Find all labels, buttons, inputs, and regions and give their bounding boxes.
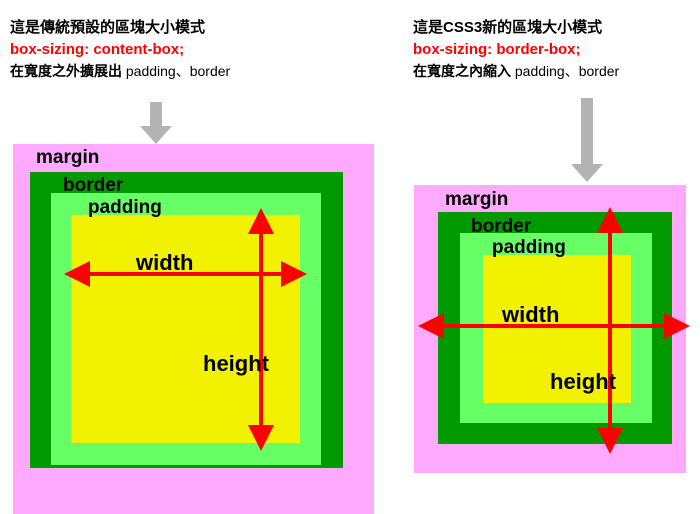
border-box-height-label: height [550,371,616,393]
caption-left-line1: 這是傳統預設的區塊大小模式 [10,17,230,39]
content-box-height-label: height [203,353,269,375]
border-box-width-label: width [502,304,559,326]
caption-right-line3: 在寬度之內縮入 padding、border [413,61,619,81]
border-box-border-label: border [471,217,531,236]
caption-left-code: box-sizing: content-box; [10,39,230,61]
caption-content-box: 這是傳統預設的區塊大小模式 box-sizing: content-box; 在… [10,17,230,81]
caption-right-line1: 這是CSS3新的區塊大小模式 [413,17,619,39]
content-box-width-label: width [136,252,193,274]
caption-right-code: box-sizing: border-box; [413,39,619,61]
border-box-margin-label: margin [445,190,508,209]
caption-right-line3-code: padding、border [515,63,619,79]
border-box-padding-label: padding [492,238,566,257]
caption-border-box: 這是CSS3新的區塊大小模式 box-sizing: border-box; 在… [413,17,619,81]
content-box-padding-label: padding [88,198,162,217]
caption-right-line3-prefix: 在寬度之內縮入 [413,63,511,79]
content-box-margin-label: margin [36,148,99,167]
content-box-border-label: border [63,176,123,195]
caption-left-line3: 在寬度之外擴展出 padding、border [10,61,230,81]
content-box-height-arrow [245,208,277,451]
down-arrow-icon-right [570,98,604,183]
down-arrow-icon-left [139,102,173,145]
caption-left-line3-code: padding、border [126,63,230,79]
caption-left-line3-prefix: 在寬度之外擴展出 [10,63,122,79]
border-box-height-arrow [594,207,626,454]
